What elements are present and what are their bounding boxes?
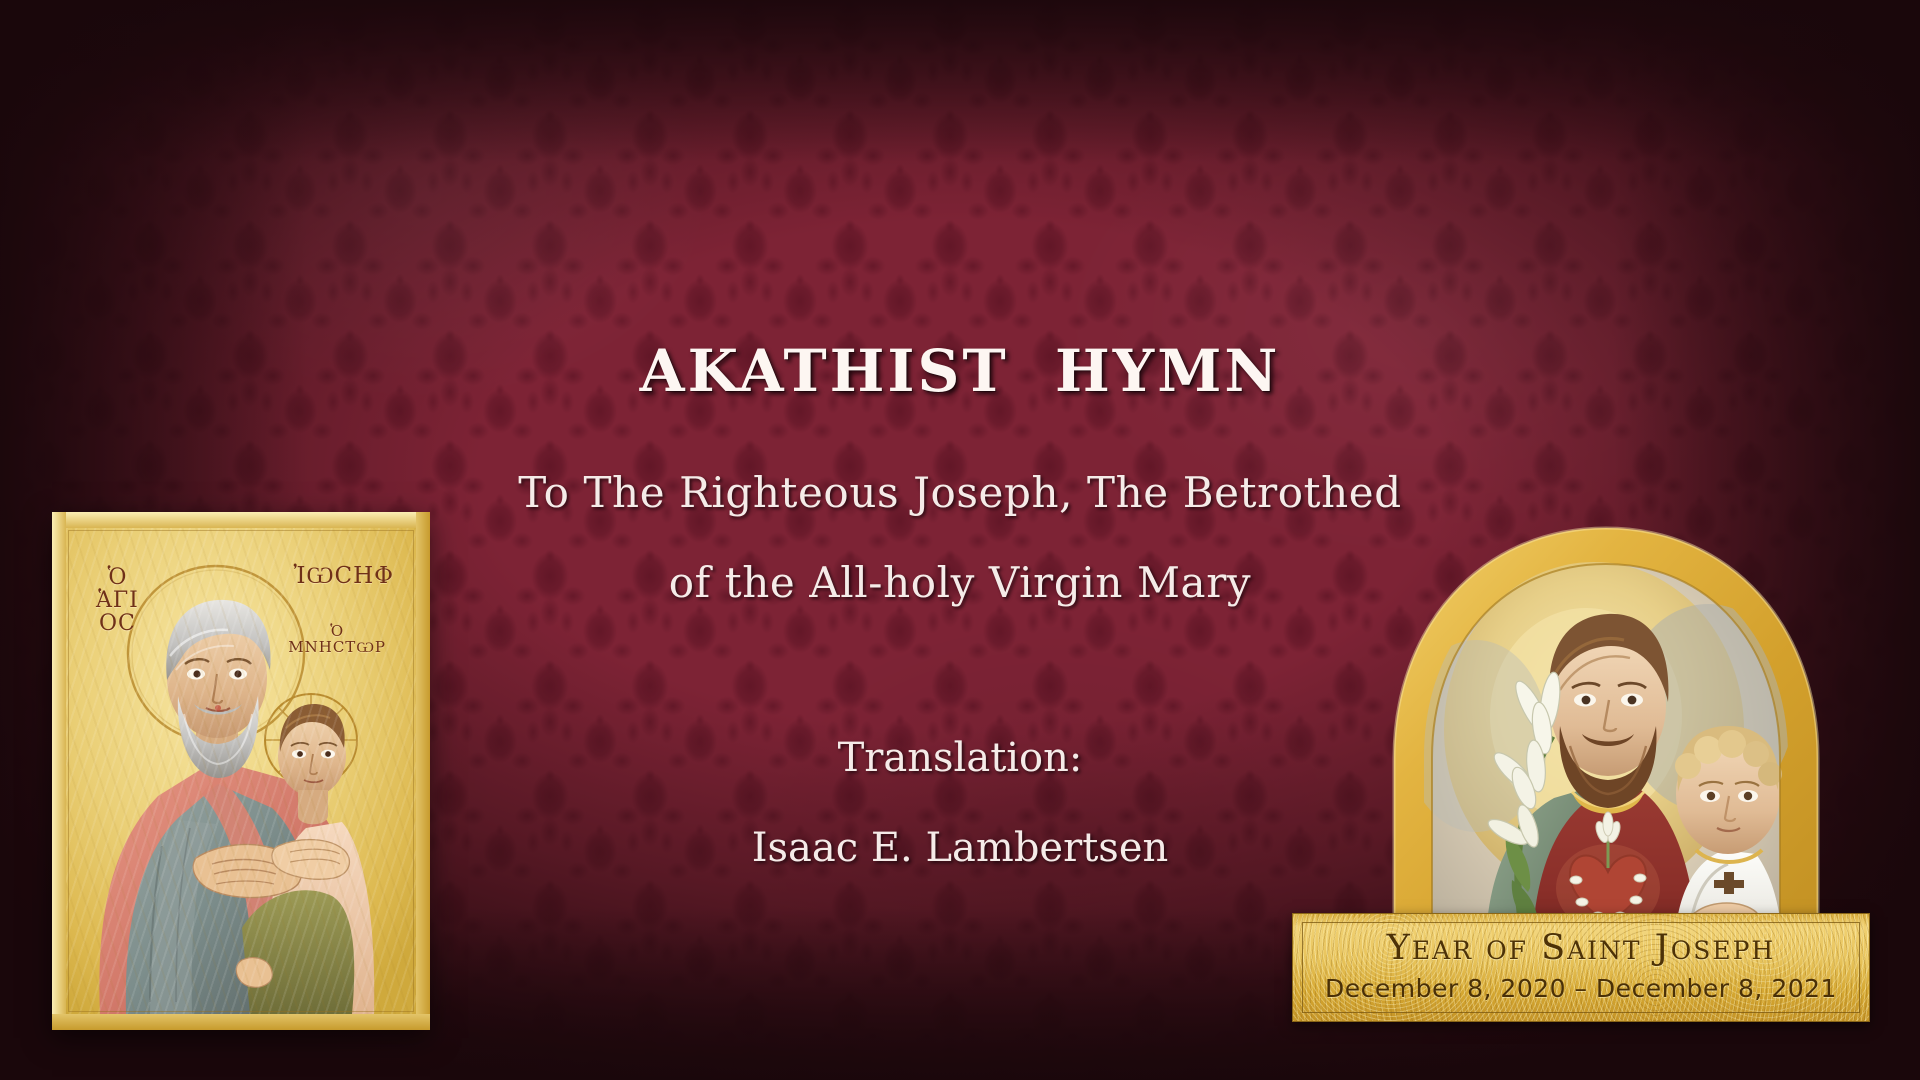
translator-name: Isaac E. Lambertsen xyxy=(0,825,1920,871)
slide-text-layer: AKATHIST HYMN To The Righteous Joseph, T… xyxy=(0,0,1920,1080)
slide-title: AKATHIST HYMN xyxy=(0,337,1920,405)
presentation-slide: ὉἉΓΙΟC ἸѠCΗΦ ὉΜΝΗCΤѠΡ xyxy=(0,0,1920,1080)
translation-label: Translation: xyxy=(0,735,1920,781)
slide-subtitle-line-2: of the All-holy Virgin Mary xyxy=(0,558,1920,607)
slide-subtitle-line-1: To The Righteous Joseph, The Betrothed xyxy=(0,468,1920,517)
